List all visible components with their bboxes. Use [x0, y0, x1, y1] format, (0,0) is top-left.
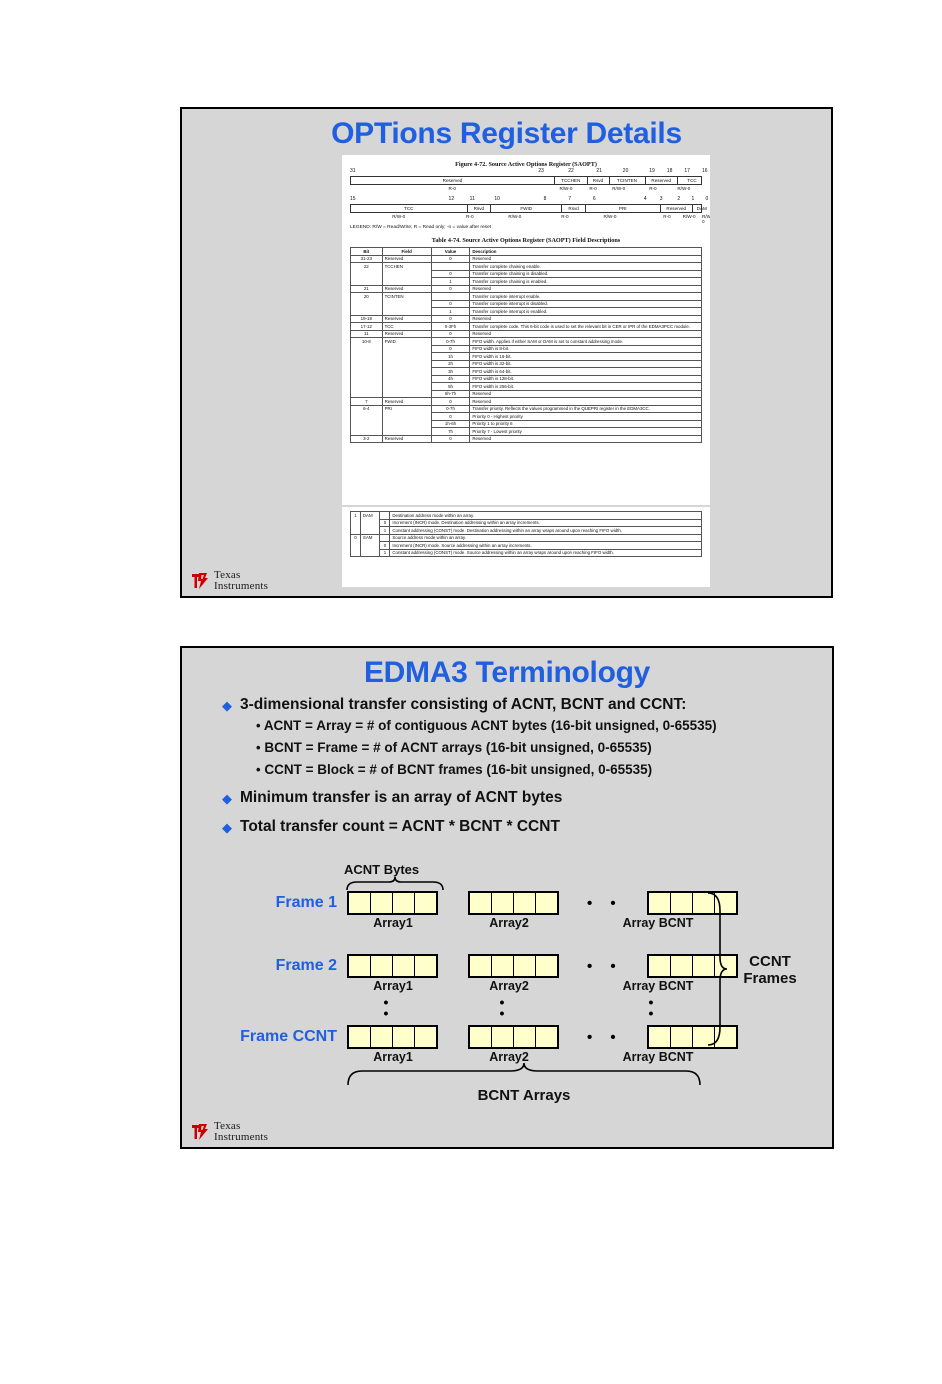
table-header-row: BitFieldValueDescription — [351, 248, 702, 256]
ti-logo: Texas Instruments — [190, 570, 268, 592]
table-cell-desc: FIFO width is 32-bit. — [470, 360, 702, 368]
table-cell-field — [382, 420, 431, 428]
acnt-bytes-label: ACNT Bytes — [344, 862, 419, 877]
table-cell-desc: Destination address mode within an array… — [390, 512, 702, 520]
array-boxes-0-0 — [347, 891, 438, 915]
sub-bullet-2: • CCNT = Block = # of BCNT frames (16-bi… — [256, 762, 822, 777]
sub-bullet-0: • ACNT = Array = # of contiguous ACNT by… — [256, 718, 822, 733]
table-cell-value: 0 — [431, 315, 470, 323]
table-row: 20TCINTENTransfer complete interrupt ena… — [351, 293, 702, 301]
table-cell-value: 2h — [431, 360, 470, 368]
table-cell-desc: FIFO width is 128-bit. — [470, 375, 702, 383]
bullet-text-1: Minimum transfer is an array of ACNT byt… — [240, 789, 562, 807]
frame-row-2: Frame CCNT • • — [206, 1025, 738, 1049]
table-cell-desc: Priority 1 to priority 6 — [470, 420, 702, 428]
horizontal-ellipsis-1: • • — [587, 958, 623, 975]
table-cell-desc: Constant addressing (CONST) mode. Source… — [390, 549, 702, 557]
table-row: 0Increment (INCR) mode. Source addressin… — [351, 542, 702, 550]
table-cell-value: 5h — [431, 383, 470, 391]
array-label-2-0: Array1 — [347, 1050, 439, 1064]
table-cell-field — [382, 360, 431, 368]
table-cell-value: 1 — [431, 278, 470, 286]
table-cell-field: TCC — [382, 323, 431, 331]
table-row: 1DAMDestination address mode within an a… — [351, 512, 702, 520]
table-row: 1Transfer complete interrupt is enabled. — [351, 308, 702, 316]
table-cell-desc: Transfer complete chaining enable. — [470, 263, 702, 271]
slide-options-register-details: OPTions Register Details Figure 4-72. So… — [180, 107, 833, 598]
table-cell-bit: 31-23 — [351, 255, 383, 263]
table-cell-value: 0 — [431, 398, 470, 406]
table-cell-bit: 20 — [351, 293, 383, 301]
table-cell-value: 4h — [431, 375, 470, 383]
diamond-bullet-icon: ◆ — [222, 821, 232, 834]
table-cell-field: PRI — [382, 405, 431, 413]
table-cell-field — [382, 308, 431, 316]
table-cell-field: Reserved — [382, 398, 431, 406]
frame-row-0: Frame 1 • • — [242, 891, 738, 915]
table-cell-desc: Transfer priority. Reflects the values p… — [470, 405, 702, 413]
frame-label-2: Frame CCNT — [206, 1028, 337, 1046]
array-boxes-0-1 — [468, 891, 559, 915]
table-cell-field — [382, 428, 431, 436]
field-descriptions-table-2: 1DAMDestination address mode within an a… — [350, 511, 702, 557]
array-label-0-2: Array BCNT — [612, 916, 704, 930]
edma3-array-diagram: ACNT Bytes Frame 1 • • Array1 Array2 Arr… — [182, 863, 832, 1113]
sub-bullet-1: • BCNT = Frame = # of ACNT arrays (16-bi… — [256, 740, 822, 755]
bullet-text-0: 3-dimensional transfer consisting of ACN… — [240, 696, 686, 714]
table-row: 1Constant addressing (CONST) mode. Desti… — [351, 527, 702, 535]
array-label-2-1: Array2 — [463, 1050, 555, 1064]
ccnt-frames-line2: Frames — [730, 970, 810, 987]
figure-title: Figure 4-72. Source Active Options Regis… — [342, 161, 710, 168]
table-cell-desc: Reserved — [470, 255, 702, 263]
table-row: 0Transfer complete interrupt is disabled… — [351, 300, 702, 308]
table-cell-desc: FIFO width is 16-bit. — [470, 353, 702, 361]
array-label-1-0: Array1 — [347, 979, 439, 993]
table-header-cell: Value — [431, 248, 470, 256]
bitmap-row-1-access: R-0 R/W-0 R-0 R/W-0 R-0 R/W-0 — [350, 185, 702, 194]
bullet-list: ◆ 3-dimensional transfer consisting of A… — [222, 696, 822, 840]
table-cell-bit — [351, 420, 383, 428]
bcnt-brace — [346, 1067, 702, 1087]
table-header-cell: Bit — [351, 248, 383, 256]
table-cell-field: FWID — [382, 338, 431, 346]
array-label-1-2: Array BCNT — [612, 979, 704, 993]
table-row: 22TCCHENTransfer complete chaining enabl… — [351, 263, 702, 271]
table-header-cell: Description — [470, 248, 702, 256]
table-cell-bit: 10-8 — [351, 338, 383, 346]
table-row: 1hFIFO width is 16-bit. — [351, 353, 702, 361]
table-cell-field: Reserved — [382, 285, 431, 293]
table-cell-desc: Transfer complete interrupt is enabled. — [470, 308, 702, 316]
table-cell-bit — [351, 308, 383, 316]
table-cell-bit — [351, 270, 383, 278]
table-cell-desc: Transfer complete chaining is disabled. — [470, 270, 702, 278]
table-cell-value: 0 — [380, 519, 390, 527]
table-cell-desc: FIFO width is 256-bit. — [470, 383, 702, 391]
diamond-bullet-icon: ◆ — [222, 699, 232, 712]
ti-logo-wordmark: Texas Instruments — [214, 570, 268, 592]
bullet-item-0: ◆ 3-dimensional transfer consisting of A… — [222, 696, 822, 714]
ccnt-frames-label: CCNT Frames — [730, 953, 810, 988]
table-cell-field — [382, 300, 431, 308]
ti-logo-line2: Instruments — [214, 1132, 268, 1143]
table-cell-bit — [351, 375, 383, 383]
table-cell-field — [382, 413, 431, 421]
table-cell-value: 0 — [431, 330, 470, 338]
table-cell-desc: Transfer complete interrupt enable. — [470, 293, 702, 301]
table-row: 0Increment (INCR) mode. Destination addr… — [351, 519, 702, 527]
table-cell-bit — [351, 413, 383, 421]
bitmap-row-2: 15 12 11 10 8 7 6 4 3 2 1 0 TCC Rsvd FWI… — [350, 196, 702, 222]
datasheet-page-lower: 1DAMDestination address mode within an a… — [342, 507, 710, 587]
table-cell-field — [382, 390, 431, 398]
table-cell-field — [382, 368, 431, 376]
table-cell-desc: Transfer complete chaining is enabled. — [470, 278, 702, 286]
table-cell-bit — [351, 527, 361, 535]
table-cell-bit: 1 — [351, 512, 361, 520]
dot-bullet-icon: • — [256, 740, 261, 755]
diamond-bullet-icon: ◆ — [222, 792, 232, 805]
ti-logo-mark-icon — [190, 571, 210, 591]
table-row: 6h-7hReserved — [351, 390, 702, 398]
bitmap-row-2-access: R/W-0 R-0 R/W-0 R-0 R/W-0 R-0 R/W-0 R/W-… — [350, 213, 702, 222]
table-cell-desc: Priority 7 - Lowest priority — [470, 428, 702, 436]
slide1-title: OPTions Register Details — [182, 117, 831, 151]
table-cell-field: TCINTEN — [382, 293, 431, 301]
table-cell-value: 0 — [431, 345, 470, 353]
table-cell-bit: 6-4 — [351, 405, 383, 413]
ccnt-brace — [706, 891, 728, 1047]
table-cell-value: 0-7h — [431, 405, 470, 413]
table-cell-bit — [351, 360, 383, 368]
bitmap-row-1-fields: Reserved TCCHEN Rsvd TCINTEN Reserved TC… — [350, 176, 702, 185]
table-row: 0FIFO width is 8-bit. — [351, 345, 702, 353]
datasheet-page-upper: Figure 4-72. Source Active Options Regis… — [342, 155, 710, 505]
table-cell-field — [382, 375, 431, 383]
vertical-ellipsis-0: •• — [379, 997, 393, 1019]
table-cell-desc: Transfer complete interrupt is disabled. — [470, 300, 702, 308]
table-cell-field — [382, 353, 431, 361]
acnt-brace — [345, 879, 445, 891]
dot-bullet-icon: • — [256, 718, 261, 733]
table-cell-desc: Reserved — [470, 315, 702, 323]
slide-edma3-terminology: EDMA3 Terminology ◆ 3-dimensional transf… — [180, 646, 834, 1149]
table-cell-field: DAM — [360, 512, 380, 520]
table-cell-bit — [351, 345, 383, 353]
table-cell-value: 6h-7h — [431, 390, 470, 398]
ti-logo-line2: Instruments — [214, 581, 268, 592]
table-cell-bit: 3-2 — [351, 435, 383, 443]
table-cell-desc: Increment (INCR) mode. Source addressing… — [390, 542, 702, 550]
sub-bullet-text-0: ACNT = Array = # of contiguous ACNT byte… — [264, 718, 717, 733]
table-cell-field — [360, 549, 380, 557]
table-cell-field — [382, 278, 431, 286]
table-row: 6-4PRI0-7hTransfer priority. Reflects th… — [351, 405, 702, 413]
table-cell-value: 1h — [431, 353, 470, 361]
table-cell-value: 0 — [431, 285, 470, 293]
table-cell-bit: 21 — [351, 285, 383, 293]
array-label-0-0: Array1 — [347, 916, 439, 930]
field-descriptions-table: BitFieldValueDescription31-23Reserved0Re… — [350, 247, 702, 443]
table-cell-bit: 0 — [351, 534, 361, 542]
table-row: 5hFIFO width is 256-bit. — [351, 383, 702, 391]
slide2-title: EDMA3 Terminology — [182, 656, 832, 690]
table-cell-value — [380, 512, 390, 520]
table-row: 7hPriority 7 - Lowest priority — [351, 428, 702, 436]
table-cell-desc: Increment (INCR) mode. Destination addre… — [390, 519, 702, 527]
horizontal-ellipsis-2: • • — [587, 1029, 623, 1046]
array-boxes-1-1 — [468, 954, 559, 978]
table-cell-desc: Transfer complete code. This 6-bit code … — [470, 323, 702, 331]
table-cell-bit: 11 — [351, 330, 383, 338]
table-cell-desc: Reserved — [470, 390, 702, 398]
array-label-0-1: Array2 — [463, 916, 555, 930]
table-row: 19-18Reserved0Reserved — [351, 315, 702, 323]
table-cell-bit — [351, 368, 383, 376]
sub-bullet-text-1: BCNT = Frame = # of ACNT arrays (16-bit … — [264, 740, 651, 755]
table-cell-bit — [351, 278, 383, 286]
frame-row-1: Frame 2 • • — [242, 954, 738, 978]
table-header-cell: Field — [382, 248, 431, 256]
bullet-item-2: ◆ Total transfer count = ACNT * BCNT * C… — [222, 818, 822, 836]
bitmap-row-2-fields: TCC Rsvd FWID Rsvd PRI Reserved DAM SAM — [350, 204, 702, 213]
table-cell-value: 0 — [431, 435, 470, 443]
table-cell-desc: Source address mode within an array. — [390, 534, 702, 542]
table-cell-value — [431, 293, 470, 301]
table-row: 3hFIFO width is 64-bit. — [351, 368, 702, 376]
table-cell-value: 7h — [431, 428, 470, 436]
table-cell-field — [382, 270, 431, 278]
table-cell-field: Reserved — [382, 315, 431, 323]
table-row: 1Transfer complete chaining is enabled. — [351, 278, 702, 286]
ti-logo-wordmark: Texas Instruments — [214, 1121, 268, 1143]
table-row: 10-8FWID0-7hFIFO width. Applies if eithe… — [351, 338, 702, 346]
table-cell-bit: 7 — [351, 398, 383, 406]
bullet-item-1: ◆ Minimum transfer is an array of ACNT b… — [222, 789, 822, 807]
table-cell-desc: Reserved — [470, 435, 702, 443]
table-row: 1Constant addressing (CONST) mode. Sourc… — [351, 549, 702, 557]
table-row: 0Transfer complete chaining is disabled. — [351, 270, 702, 278]
sub-bullet-text-2: CCNT = Block = # of BCNT frames (16-bit … — [264, 762, 652, 777]
bullet-text-2: Total transfer count = ACNT * BCNT * CCN… — [240, 818, 560, 836]
table-cell-field: SAM — [360, 534, 380, 542]
array-boxes-1-0 — [347, 954, 438, 978]
table-cell-desc: FIFO width is 64-bit. — [470, 368, 702, 376]
bitmap-row-1: 31 23 22 21 20 19 18 17 16 Reserved TCCH… — [350, 168, 702, 194]
table-cell-field — [360, 519, 380, 527]
table-cell-desc: FIFO width. Applies if either SAM or DAM… — [470, 338, 702, 346]
table-cell-field — [382, 383, 431, 391]
table-cell-bit — [351, 519, 361, 527]
frame-label-1: Frame 2 — [242, 957, 337, 975]
vertical-ellipsis-1: •• — [495, 997, 509, 1019]
table-cell-desc: Reserved — [470, 285, 702, 293]
table-cell-desc: Priority 0 - Highest priority — [470, 413, 702, 421]
table-cell-bit — [351, 300, 383, 308]
table-cell-value: 1 — [380, 549, 390, 557]
table-row: 1h-6hPriority 1 to priority 6 — [351, 420, 702, 428]
table-row: 0SAMSource address mode within an array. — [351, 534, 702, 542]
table-cell-value: 0 — [431, 255, 470, 263]
bcnt-arrays-label: BCNT Arrays — [346, 1087, 702, 1104]
table-row: 2hFIFO width is 32-bit. — [351, 360, 702, 368]
ti-logo-mark-icon — [190, 1122, 210, 1142]
bitmap-row-1-numbers: 31 23 22 21 20 19 18 17 16 — [350, 168, 702, 176]
table-cell-field: Reserved — [382, 330, 431, 338]
table-cell-desc: Reserved — [470, 398, 702, 406]
table-cell-value: 3h — [431, 368, 470, 376]
table-cell-field — [360, 542, 380, 550]
table-cell-value: 1h-6h — [431, 420, 470, 428]
table-cell-field: TCCHEN — [382, 263, 431, 271]
table-cell-bit — [351, 390, 383, 398]
table-cell-value — [380, 534, 390, 542]
array-label-2-2: Array BCNT — [612, 1050, 704, 1064]
table-cell-value: 0 — [380, 542, 390, 550]
table-row: 0Priority 0 - Highest priority — [351, 413, 702, 421]
table-row: 11Reserved0Reserved — [351, 330, 702, 338]
table-cell-bit — [351, 542, 361, 550]
ccnt-frames-line1: CCNT — [730, 953, 810, 970]
array-boxes-2-1 — [468, 1025, 559, 1049]
table-cell-value: 1 — [380, 527, 390, 535]
table-row: 31-23Reserved0Reserved — [351, 255, 702, 263]
array-boxes-2-0 — [347, 1025, 438, 1049]
table-cell-field: Reserved — [382, 255, 431, 263]
table-row: 3-2Reserved0Reserved — [351, 435, 702, 443]
table-cell-value: 1 — [431, 308, 470, 316]
table-cell-bit — [351, 549, 361, 557]
table-cell-bit: 17-12 — [351, 323, 383, 331]
table-cell-bit — [351, 428, 383, 436]
table-cell-value — [431, 263, 470, 271]
frame-label-0: Frame 1 — [242, 894, 337, 912]
table-cell-bit: 19-18 — [351, 315, 383, 323]
dot-bullet-icon: • — [256, 762, 261, 777]
register-legend: LEGEND: R/W = Read/Write; R = Read only;… — [350, 225, 702, 230]
ti-logo: Texas Instruments — [190, 1121, 268, 1143]
table-cell-desc: Constant addressing (CONST) mode. Destin… — [390, 527, 702, 535]
table-row: 4hFIFO width is 128-bit. — [351, 375, 702, 383]
table-cell-field: Reserved — [382, 435, 431, 443]
table-row: 17-12TCC0-3FhTransfer complete code. Thi… — [351, 323, 702, 331]
table-cell-bit — [351, 353, 383, 361]
table-cell-value: 0 — [431, 270, 470, 278]
table-cell-desc: Reserved — [470, 330, 702, 338]
table-row: 21Reserved0Reserved — [351, 285, 702, 293]
table-cell-field — [382, 345, 431, 353]
array-label-1-1: Array2 — [463, 979, 555, 993]
table-row: 7Reserved0Reserved — [351, 398, 702, 406]
table-cell-bit — [351, 383, 383, 391]
table-cell-bit: 22 — [351, 263, 383, 271]
table-cell-value: 0-3Fh — [431, 323, 470, 331]
table-cell-value: 0-7h — [431, 338, 470, 346]
table-cell-value: 0 — [431, 413, 470, 421]
table-cell-desc: FIFO width is 8-bit. — [470, 345, 702, 353]
vertical-ellipsis-2: •• — [644, 997, 658, 1019]
table-cell-field — [360, 527, 380, 535]
bitmap-row-2-numbers: 15 12 11 10 8 7 6 4 3 2 1 0 — [350, 196, 702, 204]
horizontal-ellipsis-0: • • — [587, 895, 623, 912]
table-title: Table 4-74. Source Active Options Regist… — [342, 237, 710, 244]
table-cell-value: 0 — [431, 300, 470, 308]
